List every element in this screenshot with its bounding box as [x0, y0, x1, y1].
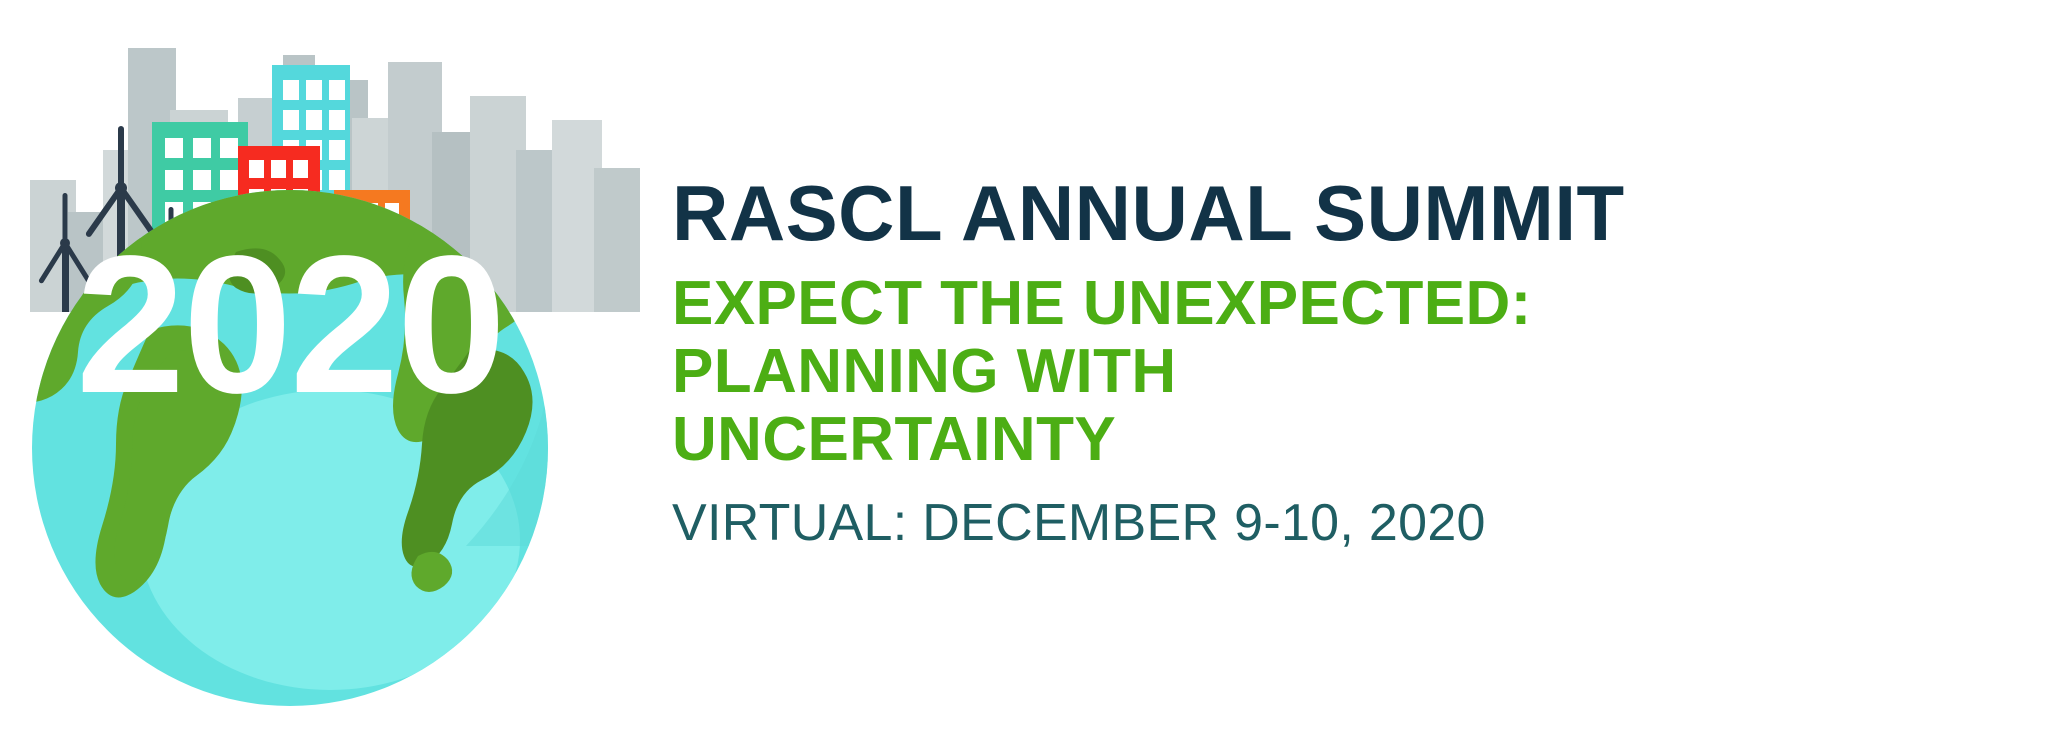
globe-city-illustration: 2020: [0, 0, 640, 720]
subtitle-line-1: EXPECT THE UNEXPECTED:: [672, 270, 2012, 338]
event-dateline: VIRTUAL: DECEMBER 9-10, 2020: [672, 494, 2012, 552]
subtitle-line-3: UNCERTAINTY: [672, 406, 2012, 474]
year-overlay: 2020: [76, 215, 504, 434]
subtitle-line-2: PLANNING WITH: [672, 338, 2012, 406]
page-title: RASCL ANNUAL SUMMIT: [672, 170, 2012, 256]
banner-text-block: RASCL ANNUAL SUMMIT EXPECT THE UNEXPECTE…: [672, 170, 2012, 552]
summit-banner: 2020 RASCL ANNUAL SUMMIT EXPECT THE UNEX…: [0, 0, 2048, 734]
